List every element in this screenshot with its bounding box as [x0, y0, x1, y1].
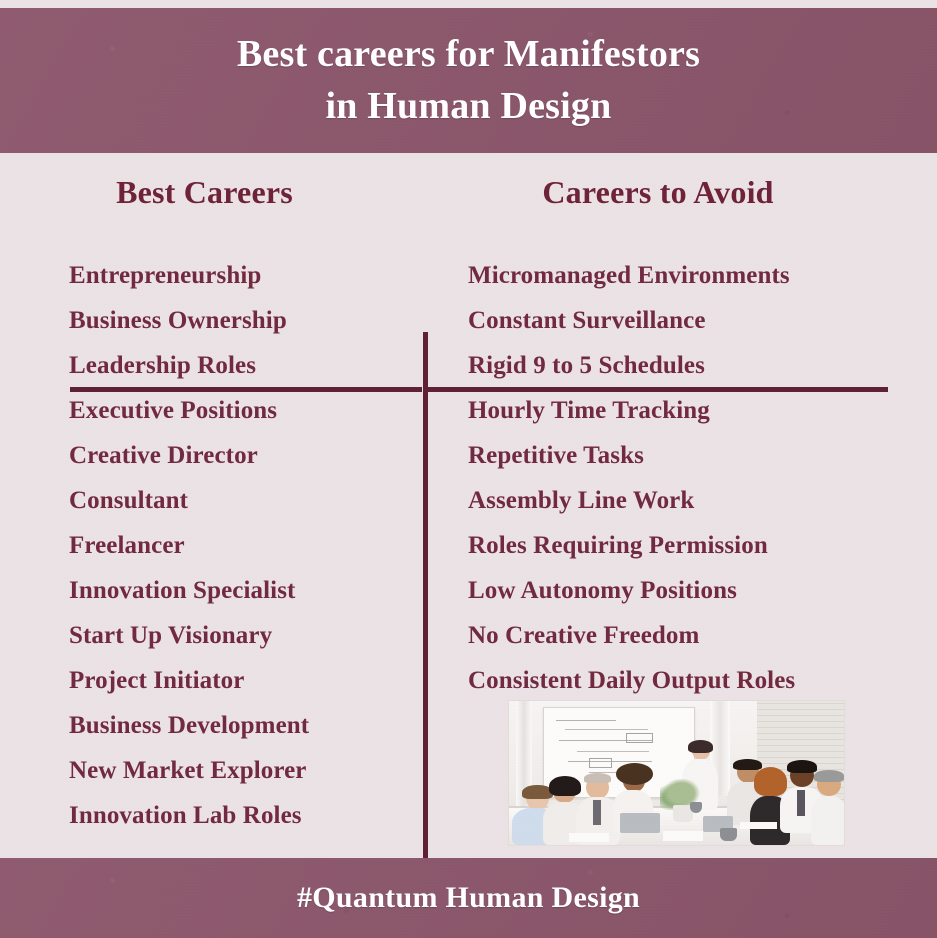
photo-papers	[569, 833, 609, 842]
header-band: Best careers for Manifestors in Human De…	[0, 8, 937, 153]
list-item: Hourly Time Tracking	[468, 388, 795, 433]
photo-whiteboard-scribble	[556, 720, 616, 721]
list-item: Business Ownership	[69, 298, 309, 343]
list-item: Creative Director	[69, 433, 309, 478]
footer-hashtag: #Quantum Human Design	[297, 881, 640, 915]
infographic-poster: Best careers for Manifestors in Human De…	[0, 0, 937, 938]
list-item: Repetitive Tasks	[468, 433, 795, 478]
list-item: Innovation Specialist	[69, 568, 309, 613]
photo-person-hair	[754, 767, 788, 796]
page-title-line-1: Best careers for Manifestors	[237, 29, 700, 80]
photo-person-hair	[616, 763, 653, 785]
list-item: Leadership Roles	[69, 343, 309, 388]
photo-whiteboard-scribble	[577, 751, 649, 752]
list-item: No Creative Freedom	[468, 613, 795, 658]
list-item: Innovation Lab Roles	[69, 793, 309, 838]
footer-band: #Quantum Human Design	[0, 858, 937, 938]
list-item: Start Up Visionary	[69, 613, 309, 658]
list-best-careers: Entrepreneurship Business Ownership Lead…	[69, 253, 309, 838]
list-item: Business Development	[69, 703, 309, 748]
list-item: Low Autonomy Positions	[468, 568, 795, 613]
business-meeting-photo	[508, 700, 845, 846]
list-item: Consultant	[69, 478, 309, 523]
page-title: Best careers for Manifestors in Human De…	[207, 29, 730, 132]
heading-rule-left	[70, 387, 422, 392]
photo-papers	[740, 822, 777, 829]
column-best-careers: Best Careers Entrepreneurship Business O…	[0, 160, 425, 850]
photo-person-torso	[811, 796, 846, 845]
list-item: Project Initiator	[69, 658, 309, 703]
column-heading-best-careers: Best Careers	[0, 160, 425, 211]
list-item: Roles Requiring Permission	[468, 523, 795, 568]
list-item: Executive Positions	[69, 388, 309, 433]
photo-coffee-mug	[720, 828, 737, 841]
list-item: Freelancer	[69, 523, 309, 568]
photo-person-tie	[593, 800, 601, 824]
list-item: Rigid 9 to 5 Schedules	[468, 343, 795, 388]
page-title-line-2: in Human Design	[237, 81, 700, 132]
column-divider	[423, 332, 428, 938]
list-item: New Market Explorer	[69, 748, 309, 793]
column-heading-careers-to-avoid: Careers to Avoid	[429, 160, 937, 211]
photo-person-hair	[787, 760, 817, 773]
photo-person-tie	[797, 790, 805, 816]
photo-whiteboard-box	[626, 733, 652, 743]
list-item: Consistent Daily Output Roles	[468, 658, 795, 703]
list-careers-to-avoid: Micromanaged Environments Constant Surve…	[468, 253, 795, 703]
photo-person-hair	[584, 773, 611, 783]
photo-person-hair	[814, 770, 844, 782]
list-item: Entrepreneurship	[69, 253, 309, 298]
photo-person-hair	[688, 740, 713, 753]
list-item: Assembly Line Work	[468, 478, 795, 523]
photo-person-hair	[549, 776, 581, 796]
list-item: Constant Surveillance	[468, 298, 795, 343]
photo-person-hair	[522, 785, 552, 799]
list-item: Micromanaged Environments	[468, 253, 795, 298]
photo-person-hair	[733, 759, 761, 771]
photo-whiteboard-scribble	[565, 729, 648, 730]
heading-rule-right	[428, 387, 888, 392]
photo-papers	[663, 831, 703, 841]
photo-coffee-cup	[690, 802, 702, 814]
photo-laptop	[620, 813, 660, 833]
photo-whiteboard-box	[589, 758, 612, 768]
